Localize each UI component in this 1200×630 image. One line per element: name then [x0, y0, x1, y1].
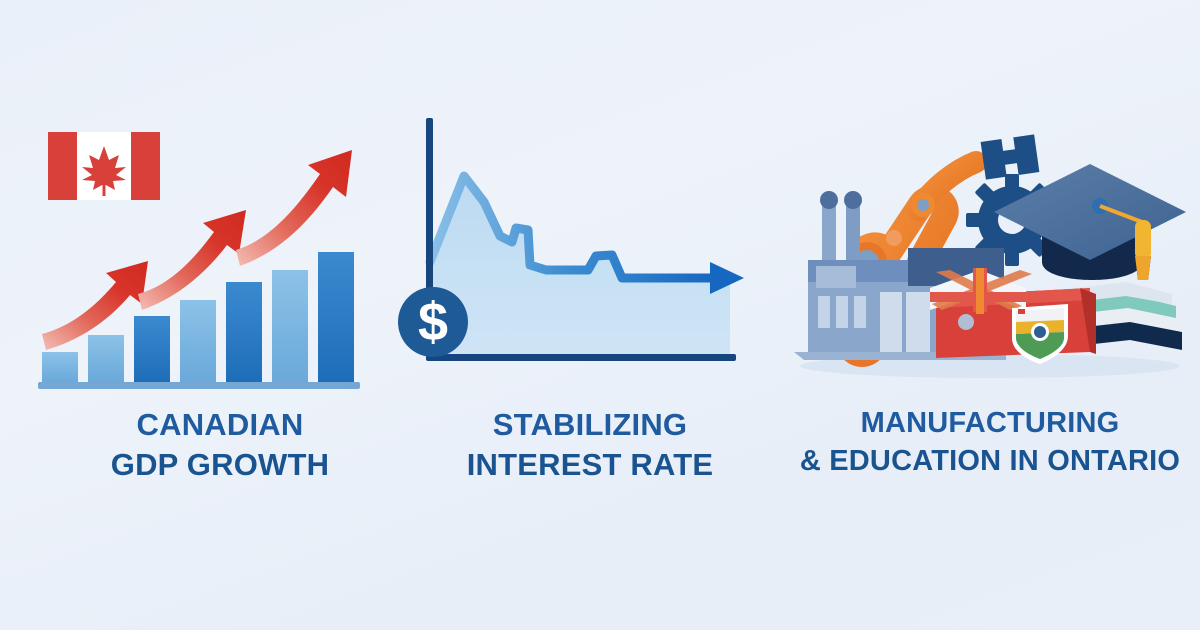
red-book-icon	[930, 268, 1096, 364]
gdp-caption: CANADIAN GDP GROWTH	[30, 405, 410, 486]
x-axis	[426, 354, 736, 361]
manufacturing-caption: MANUFACTURING & EDUCATION IN ONTARIO	[790, 405, 1190, 480]
gdp-caption-line1: CANADIAN	[30, 405, 410, 445]
uk-flag-icon	[930, 268, 1032, 314]
graduation-cap-icon	[994, 164, 1186, 280]
canada-flag-icon	[48, 132, 160, 200]
infographic-canvas: CANADIAN GDP GROWTH	[0, 0, 1200, 630]
tassel-icon	[1135, 220, 1151, 280]
panel-stabilizing-interest-rate: $ STABILIZING INTEREST RATE	[400, 0, 780, 630]
manufacturing-caption-line2: & EDUCATION IN ONTARIO	[790, 443, 1190, 481]
manufacturing-education-illustration	[790, 110, 1190, 395]
interest-rate-illustration: $	[400, 110, 780, 395]
wrench-gripper-icon	[981, 134, 1040, 179]
dollar-coin-icon: $	[398, 287, 468, 357]
manufacturing-caption-line1: MANUFACTURING	[790, 405, 1190, 443]
panel-manufacturing-education-ontario: MANUFACTURING & EDUCATION IN ONTARIO	[790, 0, 1190, 630]
interest-caption-line2: INTEREST RATE	[400, 445, 780, 485]
interest-caption-line1: STABILIZING	[400, 405, 780, 445]
interest-caption: STABILIZING INTEREST RATE	[400, 405, 780, 486]
gdp-caption-line2: GDP GROWTH	[30, 445, 410, 485]
svg-text:$: $	[418, 292, 448, 352]
gdp-illustration	[30, 110, 410, 395]
panel-canadian-gdp-growth: CANADIAN GDP GROWTH	[30, 0, 410, 630]
